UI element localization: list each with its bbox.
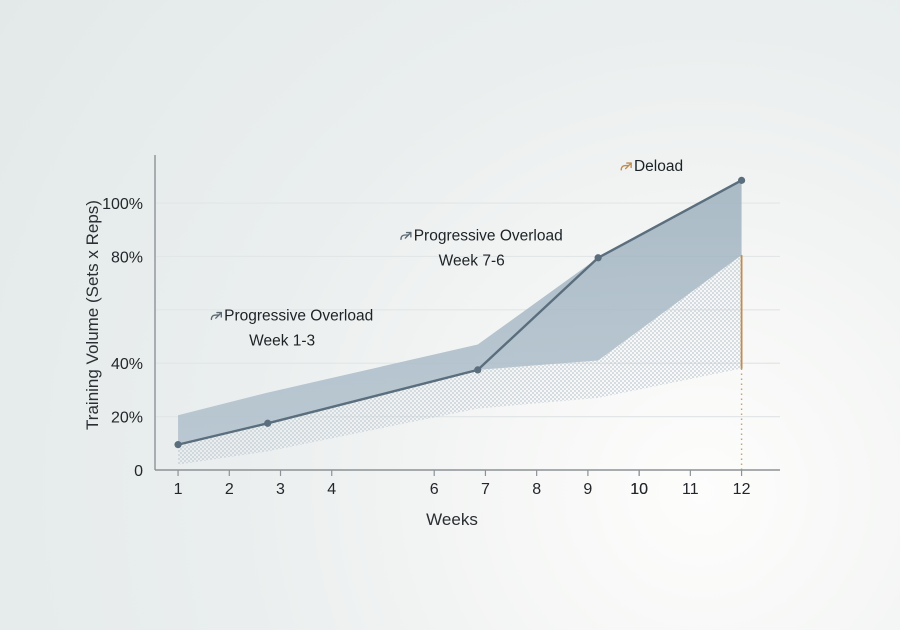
x-tick-label: 3 xyxy=(276,481,285,498)
x-tick-label: 8 xyxy=(532,481,541,498)
y-tick-label: 20% xyxy=(111,410,143,427)
training-volume-chart: 1234678910101112 020%40%80%100% Progress… xyxy=(0,0,900,630)
x-axis-ticks: 1234678910101112 xyxy=(174,470,751,498)
y-tick-label: 0 xyxy=(134,463,143,480)
annotation-line-2: Week 7-6 xyxy=(439,252,505,269)
y-axis-ticks: 020%40%80%100% xyxy=(102,196,143,480)
trending-up-arrow-icon xyxy=(621,163,631,170)
y-tick-label: 100% xyxy=(102,196,143,213)
x-tick-label: 9 xyxy=(583,481,592,498)
annotation-line-2: Week 1-3 xyxy=(249,333,315,350)
y-axis-title: Training Volume (Sets x Reps) xyxy=(83,200,102,430)
x-tick-label: 11 xyxy=(682,481,699,498)
trending-up-arrow-icon xyxy=(211,313,221,320)
x-tick-label: 6 xyxy=(430,481,439,498)
chart-container: 1234678910101112 020%40%80%100% Progress… xyxy=(0,0,900,630)
y-tick-label: 40% xyxy=(111,356,143,373)
x-axis-title: Weeks xyxy=(426,510,478,529)
x-tick-label: 4 xyxy=(327,481,336,498)
x-tick-label: 12 xyxy=(733,481,751,498)
x-tick-label: 10 xyxy=(630,481,648,498)
annotation-line-1: Progressive Overload xyxy=(224,308,373,325)
x-tick-label: 7 xyxy=(481,481,490,498)
x-tick-label: 2 xyxy=(225,481,234,498)
annotation-line-1: Progressive Overload xyxy=(414,227,563,244)
annotation-line-1: Deload xyxy=(634,158,683,175)
x-tick-label: 1 xyxy=(174,481,183,498)
trending-up-arrow-icon xyxy=(401,233,411,240)
y-tick-label: 80% xyxy=(111,249,143,266)
